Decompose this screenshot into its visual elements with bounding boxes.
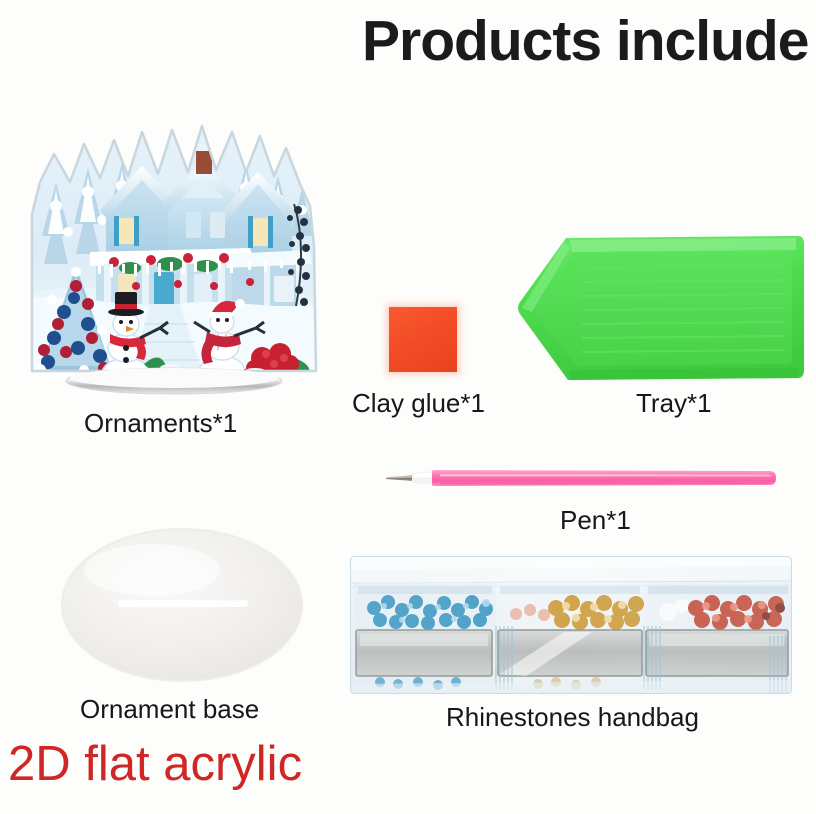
ornaments-label: Ornaments*1 (84, 408, 237, 439)
pen-label: Pen*1 (560, 505, 631, 536)
green-diamond-tray-icon (512, 228, 808, 388)
rhinestone-ziplock-pouches-icon (350, 556, 792, 694)
pink-drill-pen-icon (384, 462, 784, 494)
pen-image (384, 462, 784, 494)
tray-image (512, 228, 808, 388)
ornament-base-label: Ornament base (80, 694, 259, 725)
clay-glue-label: Clay glue*1 (352, 388, 485, 419)
ornament-image (18, 86, 338, 398)
rhinestones-handbag-label: Rhinestones handbag (446, 702, 699, 733)
tray-label: Tray*1 (636, 388, 712, 419)
oval-acrylic-stand-icon (60, 526, 304, 684)
clay-glue-square-icon (389, 307, 457, 372)
product-contents-poster: Products include (0, 0, 816, 814)
page-title: Products include (362, 8, 808, 74)
ornament-base-image (60, 526, 304, 684)
footer-note: 2D flat acrylic (8, 736, 302, 792)
rhinestones-handbag-image (350, 556, 792, 694)
acrylic-snow-house-ornament-icon (18, 86, 338, 398)
